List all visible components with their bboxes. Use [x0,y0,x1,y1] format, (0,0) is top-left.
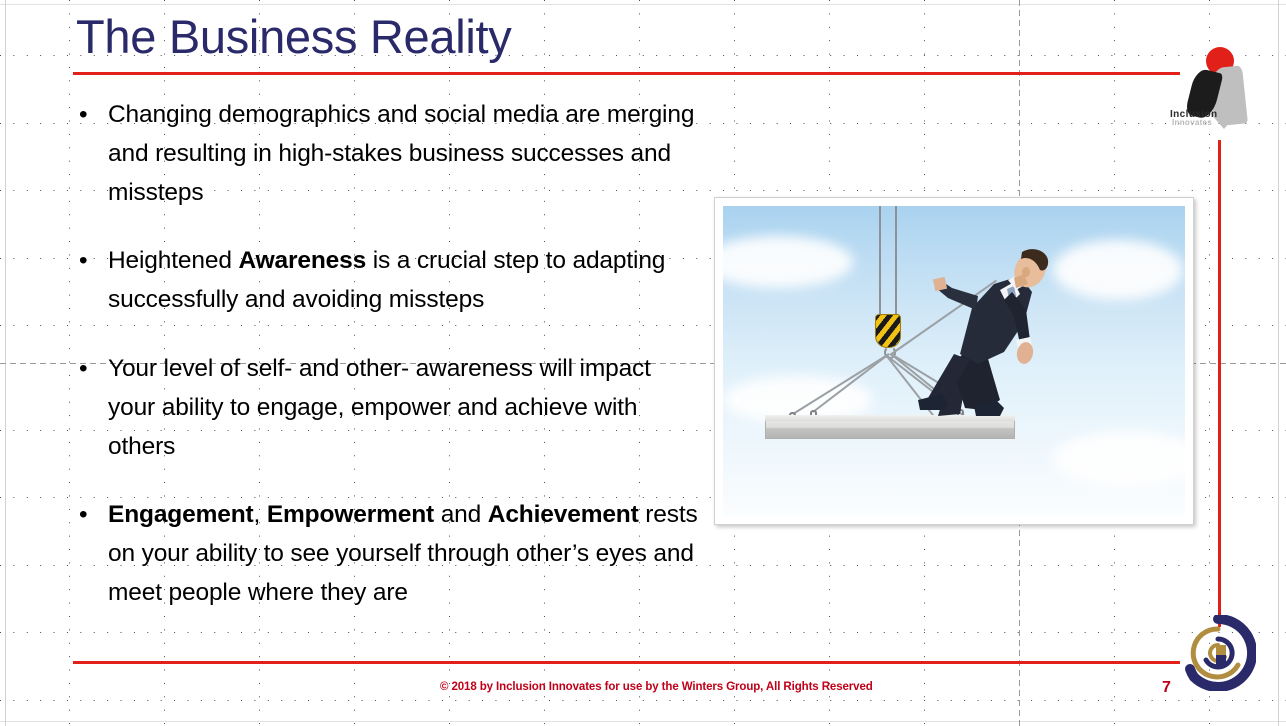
title-underline-rule [73,72,1180,75]
slide-edge-left [5,0,6,726]
list-item: • Engagement, Empowerment and Achievemen… [74,496,704,612]
inclusion-innovates-logo: Inclusion Innovates [1170,45,1268,140]
businessman-figure [908,248,1058,423]
page-title: The Business Reality [76,8,511,66]
slide-edge-right [1278,0,1279,726]
bullet-marker: • [79,350,87,389]
spiral-logo-icon [1180,615,1256,691]
copyright-footer: © 2018 by Inclusion Innovates for use by… [440,681,873,693]
bullet-marker: • [79,96,87,135]
page-number: 7 [1162,679,1171,697]
footer-rule [73,661,1180,664]
bullet-marker: • [79,496,87,535]
slide-edge-bottom [0,721,1286,722]
bullet-text-1: Changing demographics and social media a… [108,101,694,206]
slide-canvas: The Business Reality • Changing demograp… [0,0,1286,726]
logo-text-innovates: Innovates [1172,118,1212,127]
businessman-svg [908,248,1058,428]
right-vertical-rule [1218,140,1221,627]
slide-edge-top [0,4,1286,5]
bullet-marker: • [79,242,87,281]
list-item: • Heightened Awareness is a crucial step… [74,242,704,320]
businessman-on-suspended-slab-image [723,206,1185,516]
bullet-text-2: Heightened Awareness is a crucial step t… [108,247,665,313]
picture-frame[interactable] [714,197,1194,525]
grid-line-v [69,0,70,726]
grid-line-h [0,700,1286,701]
bullet-text-3: Your level of self- and other- awareness… [108,355,651,460]
bullet-text-4: Engagement, Empowerment and Achievement … [108,501,698,606]
grid-line-h [0,632,1286,633]
list-item: • Your level of self- and other- awarene… [74,350,704,466]
winters-group-spiral-logo [1180,615,1256,691]
bullet-list: • Changing demographics and social media… [74,96,704,613]
list-item: • Changing demographics and social media… [74,96,704,212]
